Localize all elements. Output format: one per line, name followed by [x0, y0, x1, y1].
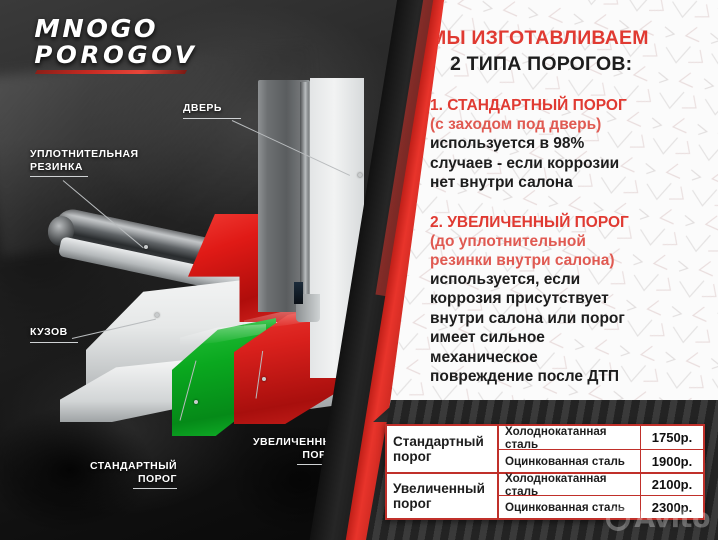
callout-standard-sill-label-line2: ПОРОГ [90, 473, 177, 486]
table-row: Холоднокатанная сталь 1750р. [499, 426, 703, 449]
callout-sealing-rubber-dot [144, 245, 148, 249]
callout-standard-sill-rule [133, 488, 177, 489]
callout-door-rule [183, 118, 241, 119]
watermark-label: Avito [634, 503, 710, 534]
table-row: Оцинкованная сталь 1900р. [499, 449, 703, 472]
callout-door: ДВЕРЬ [183, 102, 241, 119]
section-enlarged-body-line-6: повреждение после ДТП [430, 367, 710, 387]
panel-heading-secondary: 2 ТИПА ПОРОГОВ: [430, 53, 710, 76]
section-enlarged-subtitle-line-1: (до уплотнительной [430, 232, 710, 251]
callout-sealing-rubber-label-line1: УПЛОТНИТЕЛЬНАЯ [30, 148, 139, 161]
brand-logo[interactable]: MNOGO POROGOV [36, 16, 196, 74]
callout-body-dot [155, 313, 159, 317]
callout-enlarged-sill-dot [262, 377, 266, 381]
poster-root: ДВЕРЬ УПЛОТНИТЕЛЬНАЯ РЕЗИНКА КУЗОВ СТАНД… [0, 0, 718, 540]
panel-section-standard: 1. СТАНДАРТНЫЙ ПОРОГ (с заходом под двер… [430, 96, 710, 193]
section-enlarged-body-line-4: имеет сильное [430, 328, 710, 348]
info-panel: МЫ ИЗГОТАВЛИВАЕМ 2 ТИПА ПОРОГОВ: 1. СТАН… [388, 0, 718, 418]
section-enlarged-body-line-2: коррозия присутствует [430, 289, 710, 309]
callout-door-dot [358, 173, 362, 177]
callout-standard-sill: СТАНДАРТНЫЙ ПОРОГ [90, 460, 177, 489]
table-row: Холоднокатанная сталь 2100р. [499, 472, 703, 495]
section-enlarged-body-line-3: внутри салона или порог [430, 309, 710, 329]
price-material-0-1: Оцинкованная сталь [499, 450, 641, 472]
section-standard-body-line-2: случаев - если коррозии [430, 154, 710, 174]
callout-body: КУЗОВ [30, 326, 78, 343]
info-panel-content: МЫ ИЗГОТАВЛИВАЕМ 2 ТИПА ПОРОГОВ: 1. СТАН… [430, 0, 710, 387]
callout-standard-sill-label-line1: СТАНДАРТНЫЙ [90, 460, 177, 473]
avito-watermark: Avito [606, 503, 710, 534]
panel-heading-primary: МЫ ИЗГОТАВЛИВАЕМ [430, 27, 710, 50]
section-enlarged-body-line-5: механическое [430, 348, 710, 368]
panel-section-enlarged: 2. УВЕЛИЧЕННЫЙ ПОРОГ (до уплотнительной … [430, 213, 710, 387]
section-enlarged-title: 2. УВЕЛИЧЕННЫЙ ПОРОГ [430, 213, 710, 232]
price-group-label-standard: Стандартный порог [387, 426, 497, 472]
callout-standard-sill-dot [194, 400, 198, 404]
door-drain-slot [294, 282, 303, 304]
callout-sealing-rubber: УПЛОТНИТЕЛЬНАЯ РЕЗИНКА [30, 148, 139, 177]
price-table-group-column: Стандартный порог Увеличенный порог [387, 426, 499, 518]
section-standard-title: 1. СТАНДАРТНЫЙ ПОРОГ [430, 96, 710, 115]
price-group-label-enlarged: Увеличенный порог [387, 472, 497, 518]
callout-sealing-rubber-label-line2: РЕЗИНКА [30, 161, 139, 174]
section-standard-subtitle: (с заходом под дверь) [430, 115, 710, 134]
section-standard-body-line-3: нет внутри салона [430, 173, 710, 193]
price-value-0-1: 1900р. [641, 450, 703, 472]
brand-logo-line1: MNOGO [34, 16, 197, 41]
callout-body-rule [30, 342, 78, 343]
watermark-circle-icon [606, 507, 630, 531]
price-value-0-0: 1750р. [641, 426, 703, 449]
brand-logo-line2: POROGOV [34, 43, 197, 67]
price-value-1-0: 2100р. [641, 474, 703, 495]
section-enlarged-body-line-1: используется, если [430, 270, 710, 290]
callout-door-label: ДВЕРЬ [183, 102, 241, 115]
brand-logo-underline [35, 70, 187, 74]
callout-sealing-rubber-rule [30, 176, 88, 177]
section-enlarged-subtitle-line-2: резинки внутри салона) [430, 251, 710, 270]
price-material-0-0: Холоднокатанная сталь [499, 426, 641, 449]
callout-body-label: КУЗОВ [30, 326, 78, 339]
section-standard-body-line-1: используется в 98% [430, 134, 710, 154]
price-material-1-0: Холоднокатанная сталь [499, 474, 641, 495]
